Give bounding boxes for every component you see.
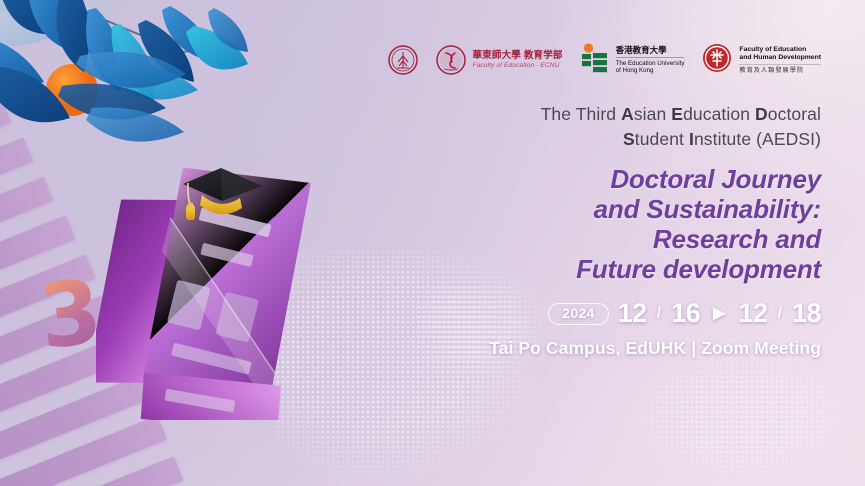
sub-t6: nstitute (AEDSI): [694, 129, 821, 149]
sub-t5: tudent: [635, 129, 689, 149]
start-month: 12: [618, 300, 647, 327]
start-day: 16: [671, 300, 700, 327]
sub-cap-a: A: [621, 104, 634, 124]
sub-t1: The Third: [541, 104, 621, 124]
event-main-title: Doctoral Journey and Sustainability: Res…: [401, 164, 821, 285]
logo-eduhk: 香港教育大學 The Education University of Hong …: [581, 43, 685, 78]
logo-ecnu-seal: [388, 45, 418, 75]
date-separator-2: /: [778, 306, 782, 322]
logo-bar: 華東師大學 教育学部 Faculty of Education · ECNU: [401, 40, 821, 80]
end-month: 12: [738, 300, 767, 327]
logo-ecnu-faculty: 華東師大學 教育学部 Faculty of Education · ECNU: [436, 45, 562, 75]
event-venue: Tai Po Campus, EdUHK | Zoom Meeting: [401, 338, 821, 359]
ecnu-seal-icon: [388, 45, 418, 75]
sub-cap-s: S: [623, 129, 635, 149]
eduhk-rule: [616, 57, 685, 58]
date-separator-1: /: [657, 306, 661, 322]
event-date-row: 2024 12 / 16 ▶ 12 / 18: [401, 300, 821, 327]
event-subtitle-line2: Student Institute (AEDSI): [401, 127, 821, 152]
end-day: 18: [792, 300, 821, 327]
fehd-name-en-2: and Human Development: [739, 54, 821, 62]
ecnu-faculty-seal-icon: [436, 45, 466, 75]
event-subtitle-line1: The Third Asian Education Doctoral: [401, 102, 821, 127]
ecnu-name-en: Faculty of Education · ECNU: [472, 63, 559, 70]
sub-t4: octoral: [768, 104, 821, 124]
main-title-line2: and Sustainability:: [401, 194, 821, 224]
date-range-arrow-icon: ▶: [713, 306, 725, 322]
fehd-seal-icon: [702, 43, 732, 78]
eduhk-blocks-icon: [581, 43, 609, 78]
event-subtitle: The Third Asian Education Doctoral Stude…: [401, 102, 821, 153]
main-title-line1: Doctoral Journey: [401, 164, 821, 194]
event-year-badge: 2024: [548, 303, 608, 325]
content-column: 華東師大學 教育学部 Faculty of Education · ECNU: [401, 0, 821, 359]
sub-t3: ducation: [683, 104, 755, 124]
sub-t2: sian: [634, 104, 671, 124]
main-title-line3: Research and: [401, 224, 821, 254]
sub-cap-d: D: [755, 104, 768, 124]
ecnu-name-cn: 華東師大學 教育学部: [472, 51, 562, 61]
sub-cap-e: E: [671, 104, 683, 124]
fehd-name-cn: 教育及人類發展學院: [739, 67, 804, 74]
eduhk-name-en-2: of Hong Kong: [616, 67, 654, 74]
conference-poster: 3: [0, 0, 865, 486]
main-title-line4: Future development: [401, 254, 821, 284]
fehd-name-en-1: Faculty of Education: [739, 46, 806, 54]
blue-leaves-decor: [0, 0, 260, 198]
eduhk-name-cn: 香港教育大學: [616, 46, 667, 56]
fehd-rule: [739, 64, 821, 65]
logo-fehd: Faculty of Education and Human Developme…: [702, 43, 821, 78]
eduhk-name-en-1: The Education University: [616, 60, 685, 67]
decorative-numeral-three: 3: [36, 269, 103, 361]
